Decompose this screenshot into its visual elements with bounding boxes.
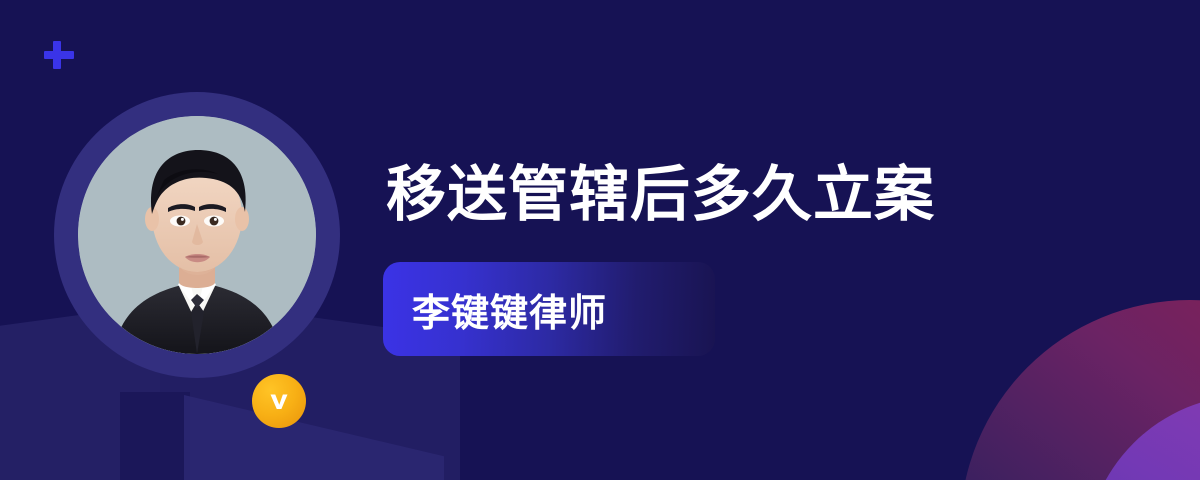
decorative-polygon-mid (120, 392, 190, 480)
lawyer-name-label: 李键键律师 (412, 282, 607, 337)
lawyer-avatar-photo (78, 116, 316, 354)
lawyer-name-badge[interactable]: 李键键律师 (383, 262, 715, 356)
plus-icon (42, 38, 76, 72)
page-title: 移送管辖后多久立案 (386, 161, 935, 229)
lawyer-profile-banner: 移送管辖后多久立案 李键键律师 (0, 0, 1200, 480)
verified-check-icon (252, 374, 306, 428)
plus-icon-bar-vertical (53, 41, 61, 69)
avatar[interactable] (54, 92, 340, 378)
